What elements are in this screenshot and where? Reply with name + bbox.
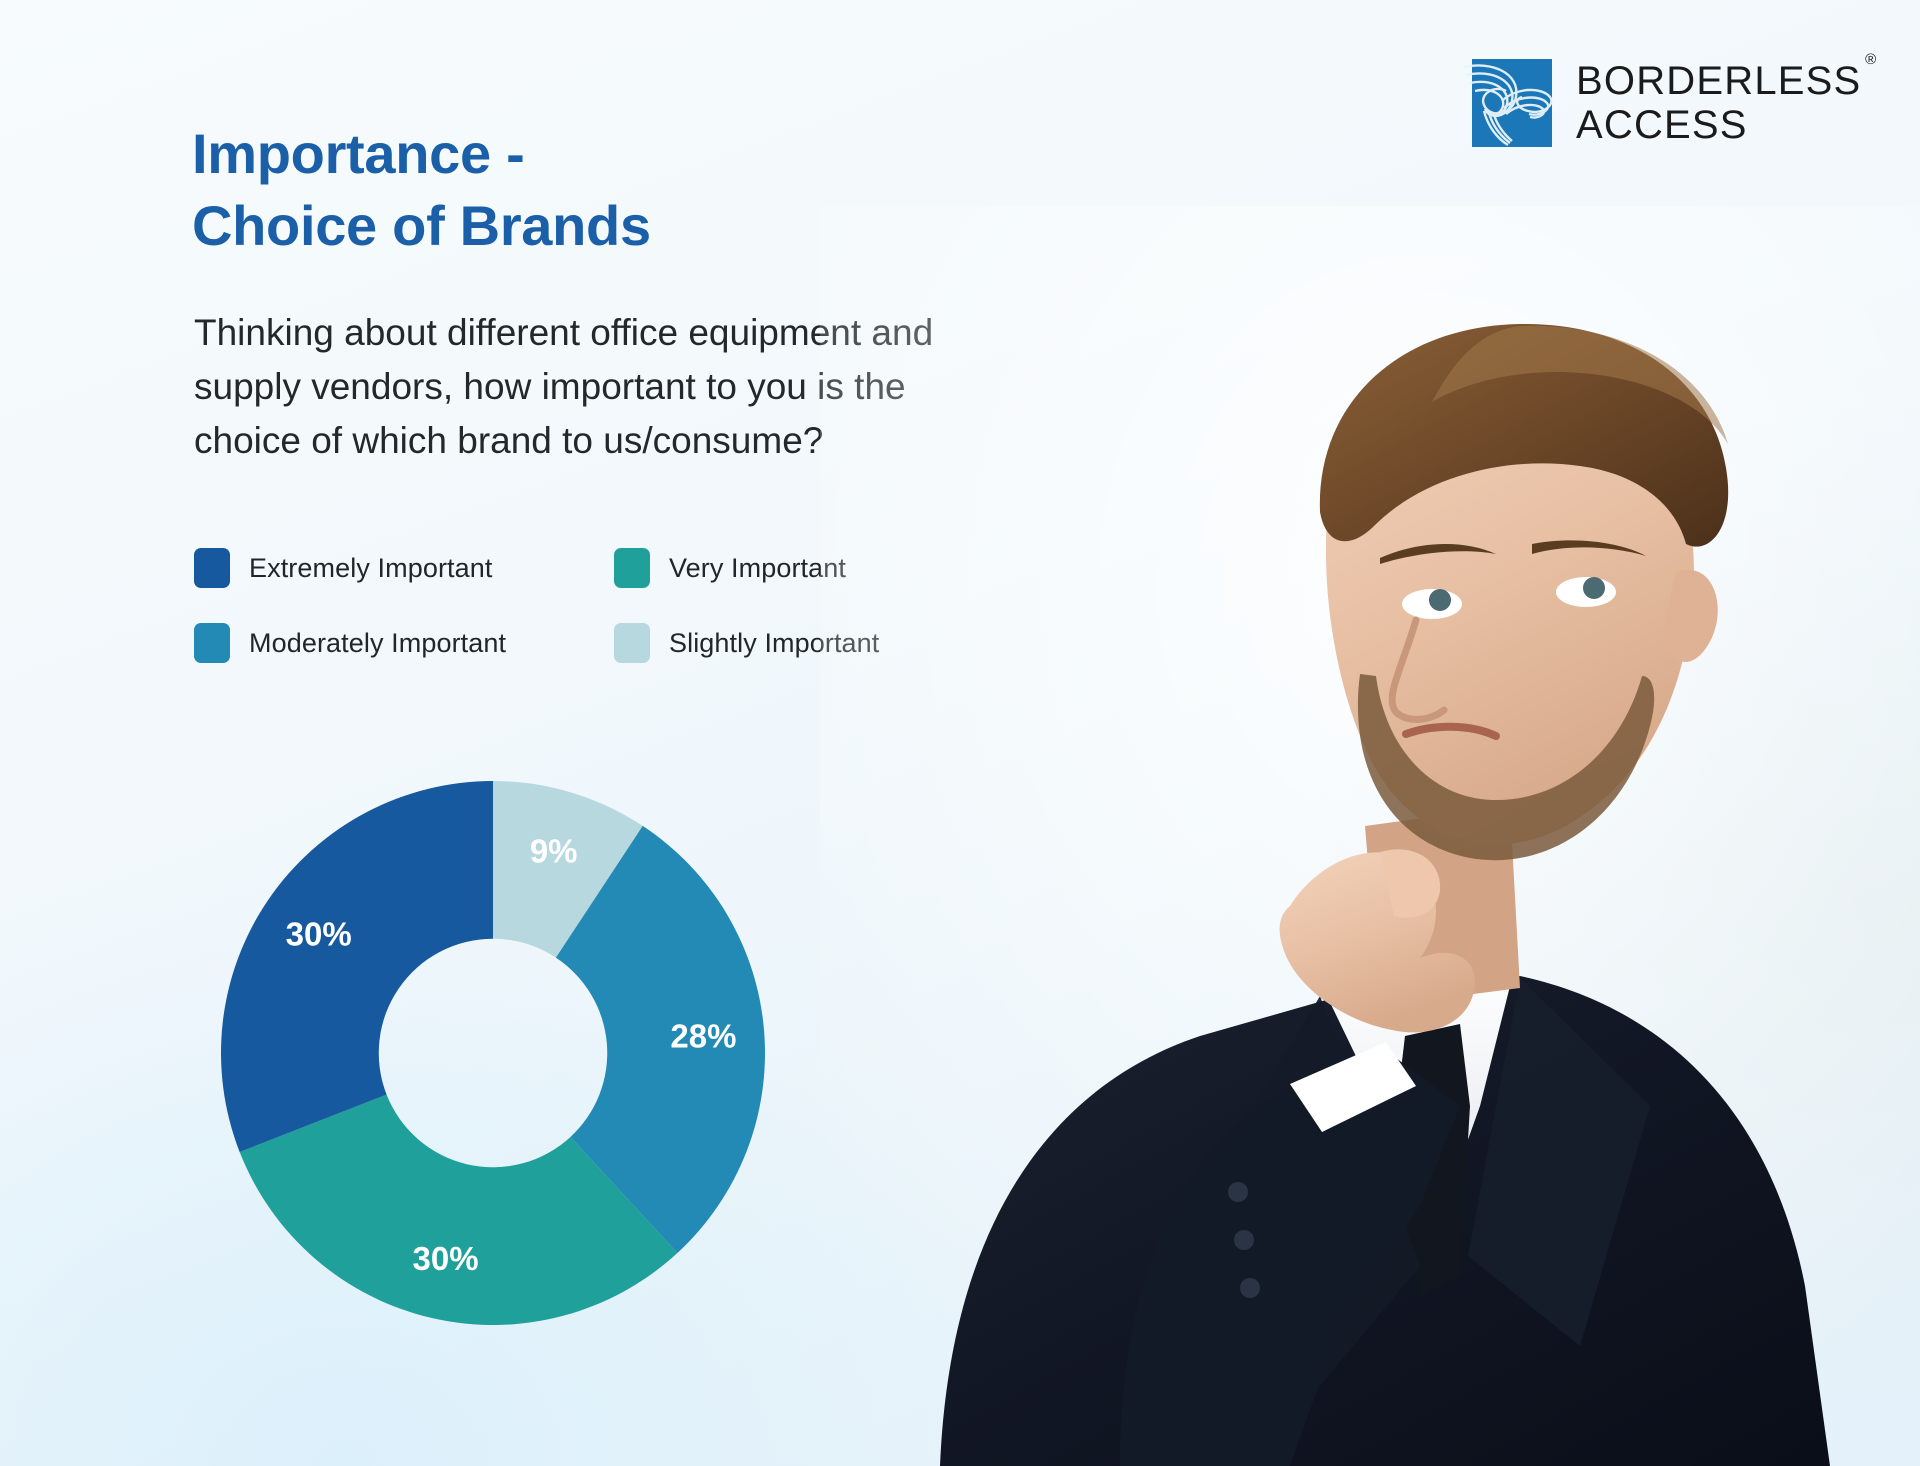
shirt-cuff bbox=[1290, 1042, 1416, 1132]
brand-wordmark-line2: ACCESS bbox=[1576, 106, 1861, 145]
necktie bbox=[1392, 1024, 1470, 1296]
left-eyebrow bbox=[1380, 544, 1496, 564]
question-line3: choice of which brand to us/consume? bbox=[194, 414, 1174, 468]
right-eyebrow bbox=[1532, 540, 1646, 556]
mouth bbox=[1406, 727, 1496, 736]
legend-item-label: Slightly Important bbox=[669, 628, 879, 659]
suit-jacket bbox=[940, 976, 1830, 1466]
brand-wordmark-line1: BORDERLESS ® bbox=[1576, 62, 1861, 101]
legend-swatch-icon bbox=[614, 548, 650, 588]
hand bbox=[1280, 852, 1476, 1032]
left-eye-white bbox=[1402, 589, 1462, 619]
beard bbox=[1358, 674, 1654, 860]
page-title: Importance - Choice of Brands bbox=[192, 118, 952, 261]
right-lapel bbox=[1468, 978, 1650, 1346]
donut-chart: 9%28%30%30% bbox=[203, 763, 783, 1343]
brand-wordmark: BORDERLESS ® ACCESS bbox=[1576, 62, 1861, 145]
borderless-access-swirl-mark-icon bbox=[1462, 57, 1554, 149]
legend-item-slightly-important[interactable]: Slightly Important bbox=[614, 623, 954, 663]
question-line1: Thinking about different office equipmen… bbox=[194, 306, 1174, 360]
donut-slice-label: 30% bbox=[286, 915, 352, 952]
brand-wordmark-line1-text: BORDERLESS bbox=[1576, 59, 1861, 103]
nose bbox=[1392, 620, 1444, 719]
legend-item-moderately-important[interactable]: Moderately Important bbox=[194, 623, 614, 663]
face bbox=[1326, 357, 1694, 844]
ear bbox=[1664, 570, 1718, 662]
left-iris bbox=[1429, 589, 1451, 611]
dress-shirt bbox=[1325, 962, 1510, 1246]
legend-swatch-icon bbox=[194, 623, 230, 663]
registered-trademark-icon: ® bbox=[1865, 52, 1877, 67]
legend-item-extremely-important[interactable]: Extremely Important bbox=[194, 548, 614, 588]
jacket-button bbox=[1228, 1182, 1248, 1202]
question-line2: supply vendors, how important to you is … bbox=[194, 360, 1174, 414]
hair bbox=[1320, 324, 1728, 547]
donut-slice[interactable] bbox=[221, 781, 493, 1152]
jacket-sleeve bbox=[1120, 1046, 1460, 1466]
slide-canvas: BORDERLESS ® ACCESS Importance - Choice … bbox=[0, 0, 1920, 1466]
legend-swatch-icon bbox=[194, 548, 230, 588]
legend-swatch-icon bbox=[614, 623, 650, 663]
chart-legend: Extremely Important Very Important Moder… bbox=[194, 548, 954, 663]
legend-item-very-important[interactable]: Very Important bbox=[614, 548, 954, 588]
legend-item-label: Very Important bbox=[669, 553, 846, 584]
brand-logo: BORDERLESS ® ACCESS bbox=[1462, 57, 1861, 149]
hair-highlight bbox=[1432, 326, 1728, 444]
donut-slice-label: 28% bbox=[670, 1017, 736, 1054]
legend-item-label: Extremely Important bbox=[249, 553, 492, 584]
jacket-button bbox=[1234, 1230, 1254, 1250]
page-title-line2: Choice of Brands bbox=[192, 190, 952, 262]
legend-item-label: Moderately Important bbox=[249, 628, 506, 659]
donut-slice-label: 9% bbox=[530, 832, 578, 869]
jacket-button bbox=[1240, 1278, 1260, 1298]
question-text: Thinking about different office equipmen… bbox=[194, 306, 1174, 468]
right-eye-white bbox=[1556, 577, 1616, 607]
right-iris bbox=[1583, 577, 1605, 599]
left-lapel bbox=[1220, 996, 1420, 1386]
index-finger bbox=[1380, 849, 1440, 917]
page-title-line1: Importance - bbox=[192, 118, 952, 190]
neck bbox=[1365, 806, 1520, 1006]
donut-slice-label: 30% bbox=[413, 1240, 479, 1277]
